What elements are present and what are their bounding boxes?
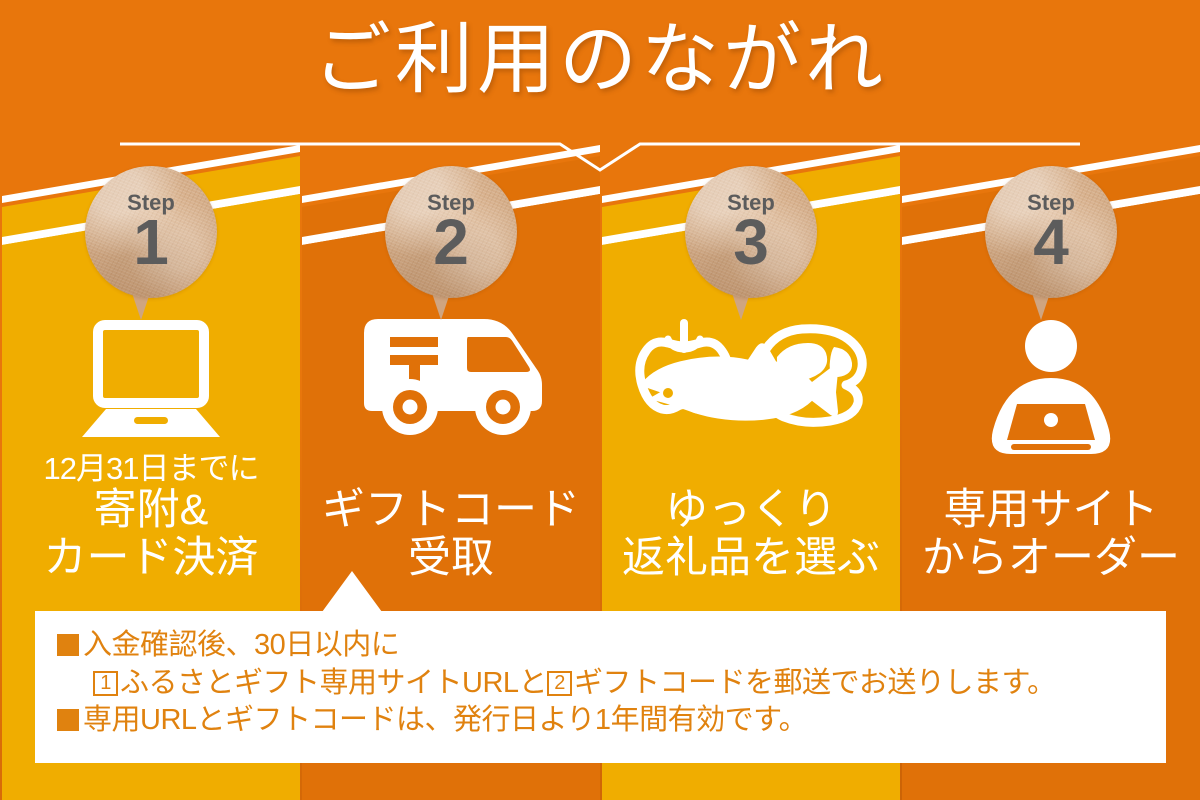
step-caption-big-2a: ギフトコード bbox=[302, 487, 600, 534]
step-caption-big-4a: 専用サイト bbox=[902, 487, 1200, 534]
step-number-3: 3 bbox=[685, 210, 817, 274]
note-line-1: 入金確認後、30日以内に bbox=[57, 627, 1156, 665]
step-caption-big-1a: 寄附& bbox=[2, 487, 300, 534]
step-number-4: 4 bbox=[985, 210, 1117, 274]
note-box: 入金確認後、30日以内に 1ふるさとギフト専用サイトURLと2ギフトコードを郵送… bbox=[35, 611, 1166, 763]
step-badge-1: Step 1 bbox=[85, 166, 217, 318]
apple-meat-fish-icon bbox=[602, 305, 900, 465]
person-with-laptop-icon bbox=[902, 318, 1200, 478]
note-pointer bbox=[322, 571, 382, 612]
page-title: ご利用のながれ bbox=[0, 16, 1200, 103]
step-badge-2: Step 2 bbox=[385, 166, 517, 318]
chevron-down-divider bbox=[120, 140, 1080, 174]
step-caption-big-1b: カード決済 bbox=[2, 535, 300, 582]
step-caption-big-3a: ゆっくり bbox=[602, 487, 900, 534]
delivery-truck-postal-icon bbox=[302, 315, 600, 475]
note-line-3-text: 専用URLとギフトコードは、発行日より1年間有効です。 bbox=[83, 704, 807, 736]
note-line-1-text: 入金確認後、30日以内に bbox=[83, 629, 399, 661]
step-number-1: 1 bbox=[85, 210, 217, 274]
flow-infographic: 12月31日までに 寄附& カード決済 bbox=[0, 0, 1200, 800]
note-line-2: 1ふるさとギフト専用サイトURLと2ギフトコードを郵送でお送りします。 bbox=[57, 665, 1156, 703]
note-line-2-a: ふるさとギフト専用サイトURLと bbox=[120, 667, 547, 699]
step-caption-big-3b: 返礼品を選ぶ bbox=[602, 535, 900, 582]
step-number-2: 2 bbox=[385, 210, 517, 274]
boxed-number-2: 2 bbox=[547, 671, 572, 696]
note-line-3: 専用URLとギフトコードは、発行日より1年間有効です。 bbox=[57, 702, 1156, 740]
boxed-number-1: 1 bbox=[93, 671, 118, 696]
note-line-2-b: ギフトコードを郵送でお送りします。 bbox=[574, 667, 1056, 699]
bullet-square-icon-2 bbox=[57, 709, 79, 731]
step-caption-small-1: 12月31日までに bbox=[2, 452, 300, 486]
step-badge-3: Step 3 bbox=[685, 166, 817, 318]
bullet-square-icon bbox=[57, 634, 79, 656]
step-badge-4: Step 4 bbox=[985, 166, 1117, 318]
step-caption-big-4b: からオーダー bbox=[902, 535, 1200, 582]
